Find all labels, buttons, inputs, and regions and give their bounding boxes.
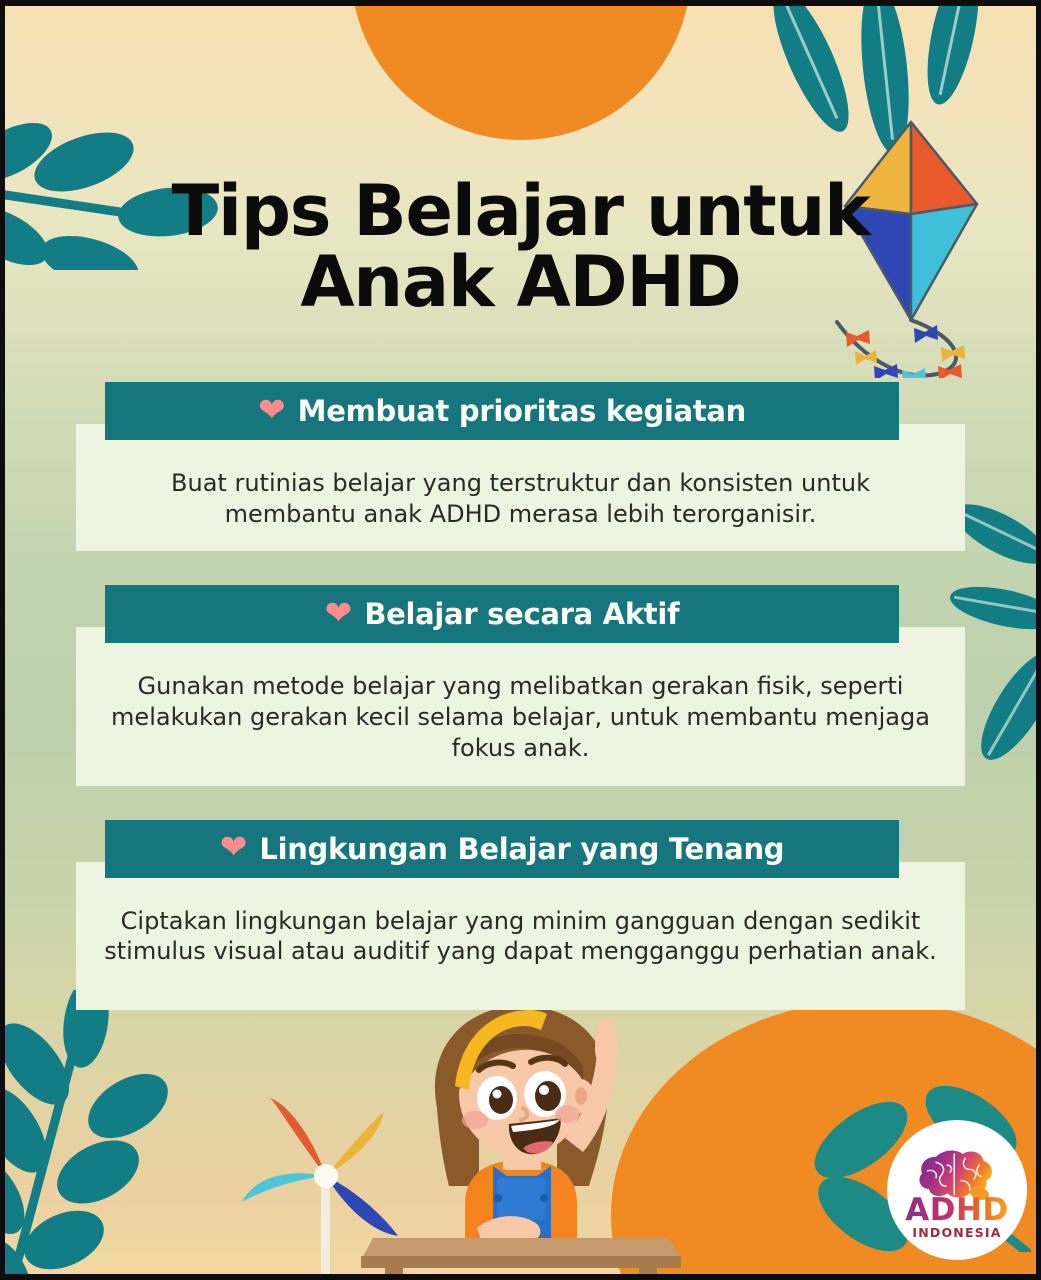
tip-card-heading: Belajar secara Aktif [364, 597, 679, 631]
tip-card-body: Buat rutinias belajar yang terstruktur d… [76, 424, 965, 551]
adhd-indonesia-logo: ADHD INDONESIA [887, 1120, 1027, 1260]
tip-card-header: ❤ Membuat prioritas kegiatan [105, 382, 899, 440]
tip-card-heading: Lingkungan Belajar yang Tenang [259, 832, 784, 866]
heart-icon: ❤ [220, 830, 248, 863]
sun-circle [351, 0, 691, 140]
tip-card-body: Gunakan metode belajar yang melibatkan g… [76, 627, 965, 785]
tip-card: ❤ Membuat prioritas kegiatan Buat rutini… [0, 382, 1041, 551]
logo-name: ADHD [905, 1195, 1008, 1226]
title-line-2: Anak ADHD [0, 247, 1041, 318]
tips-card-list: ❤ Membuat prioritas kegiatan Buat rutini… [0, 382, 1041, 1044]
title-line-1: Tips Belajar untuk [0, 176, 1041, 247]
tip-card-heading: Membuat prioritas kegiatan [298, 394, 746, 428]
tip-card: ❤ Lingkungan Belajar yang Tenang Ciptaka… [0, 820, 1041, 1010]
left-edge-bar [0, 0, 5, 1280]
logo-subtitle: INDONESIA [912, 1225, 1001, 1240]
heart-icon: ❤ [325, 596, 353, 629]
top-edge-bar [0, 0, 1041, 6]
infographic-poster: Tips Belajar untuk Anak ADHD ❤ Membuat p… [0, 0, 1041, 1280]
heart-icon: ❤ [258, 393, 286, 426]
tip-card: ❤ Belajar secara Aktif Gunakan metode be… [0, 585, 1041, 785]
tip-card-header: ❤ Belajar secara Aktif [105, 585, 899, 643]
tip-card-body: Ciptakan lingkungan belajar yang minim g… [76, 862, 965, 1010]
page-title: Tips Belajar untuk Anak ADHD [0, 176, 1041, 319]
bottom-edge-bar [0, 1274, 1041, 1280]
right-edge-bar [1036, 0, 1041, 1280]
tip-card-header: ❤ Lingkungan Belajar yang Tenang [105, 820, 899, 878]
